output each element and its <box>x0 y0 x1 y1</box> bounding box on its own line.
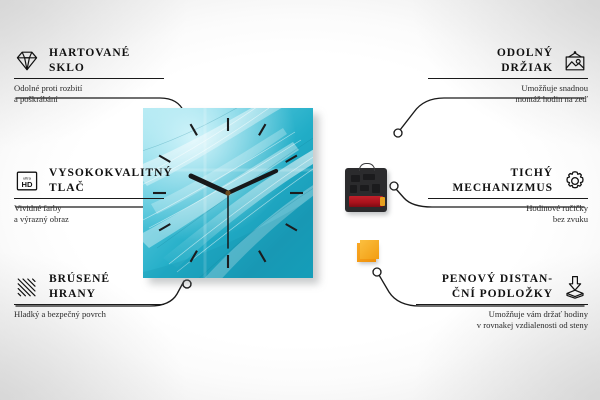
feature-title: ODOLNÝ DRŽIAK <box>497 46 553 75</box>
feature-header: ultra HD VYSOKOKVALITNÝ TLAČ <box>14 166 164 195</box>
feature-description: Hodinové ručičky bez zvuku <box>428 203 588 226</box>
feature-hd-print: ultra HD VYSOKOKVALITNÝ TLAČ Vividné far… <box>14 166 164 225</box>
feature-mechanism: TICHÝ MECHANIZMUS Hodinové ručičky bez z… <box>428 166 588 225</box>
feature-title: VYSOKOKVALITNÝ TLAČ <box>49 166 173 195</box>
feature-title: BRÚSENÉ HRANY <box>49 272 110 301</box>
foam-spacer-pad <box>357 243 376 262</box>
feature-header: PENOVÝ DISTAN- ČNÍ PODLOŽKY <box>416 272 588 301</box>
feature-title: TICHÝ MECHANIZMUS <box>452 166 553 195</box>
feature-description: Vividné farby a výrazný obraz <box>14 203 164 226</box>
framed-picture-icon <box>562 49 588 73</box>
feature-divider <box>428 198 588 199</box>
mechanism-detail <box>360 185 369 191</box>
download-pads-icon <box>562 275 588 299</box>
clock-mechanism <box>345 168 387 212</box>
feature-divider <box>14 78 164 79</box>
mechanism-battery <box>349 196 383 207</box>
feature-mount: ODOLNÝ DRŽIAK Umožňuje snadnou montáž ho… <box>428 46 588 105</box>
mechanism-shaft <box>359 163 375 171</box>
foam-spacer-pad-top <box>360 240 379 259</box>
feature-header: HARTOVANÉ SKLO <box>14 46 164 75</box>
mechanism-detail <box>351 175 360 182</box>
feature-title: HARTOVANÉ SKLO <box>49 46 130 75</box>
callout-dot-mechanism <box>390 182 398 190</box>
feature-title: PENOVÝ DISTAN- ČNÍ PODLOŽKY <box>442 272 553 301</box>
feature-description: Umožňuje vám držať hodiny v rovnakej vzd… <box>416 309 588 332</box>
feature-description: Hladký a bezpečný povrch <box>14 309 164 320</box>
hatch-lines-icon <box>14 275 40 299</box>
feature-foam-spacers: PENOVÝ DISTAN- ČNÍ PODLOŽKY Umožňuje vám… <box>416 272 588 331</box>
feature-header: BRÚSENÉ HRANY <box>14 272 164 301</box>
product-infographic: HARTOVANÉ SKLO Odolné proti rozbití a po… <box>0 0 600 400</box>
svg-text:HD: HD <box>22 180 33 189</box>
feature-divider <box>14 198 164 199</box>
feature-tempered-glass: HARTOVANÉ SKLO Odolné proti rozbití a po… <box>14 46 164 105</box>
diamond-icon <box>14 49 40 73</box>
feature-description: Umožňuje snadnou montáž hodin na zeď <box>428 83 588 106</box>
feature-divider <box>428 78 588 79</box>
feature-description: Odolné proti rozbití a poškrábání <box>14 83 164 106</box>
feature-divider <box>416 304 588 305</box>
feature-ground-edges: BRÚSENÉ HRANY Hladký a bezpečný povrch <box>14 272 164 320</box>
ultra-hd-icon: ultra HD <box>14 169 40 193</box>
callout-dot-mount <box>394 129 402 137</box>
callout-dot-foam <box>373 268 381 276</box>
feature-divider <box>14 304 164 305</box>
feature-header: ODOLNÝ DRŽIAK <box>428 46 588 75</box>
gear-icon <box>562 169 588 193</box>
mechanism-detail <box>363 174 375 180</box>
battery-terminal <box>380 197 385 206</box>
mechanism-detail <box>350 185 357 193</box>
mechanism-detail <box>372 184 380 193</box>
feature-header: TICHÝ MECHANIZMUS <box>428 166 588 195</box>
